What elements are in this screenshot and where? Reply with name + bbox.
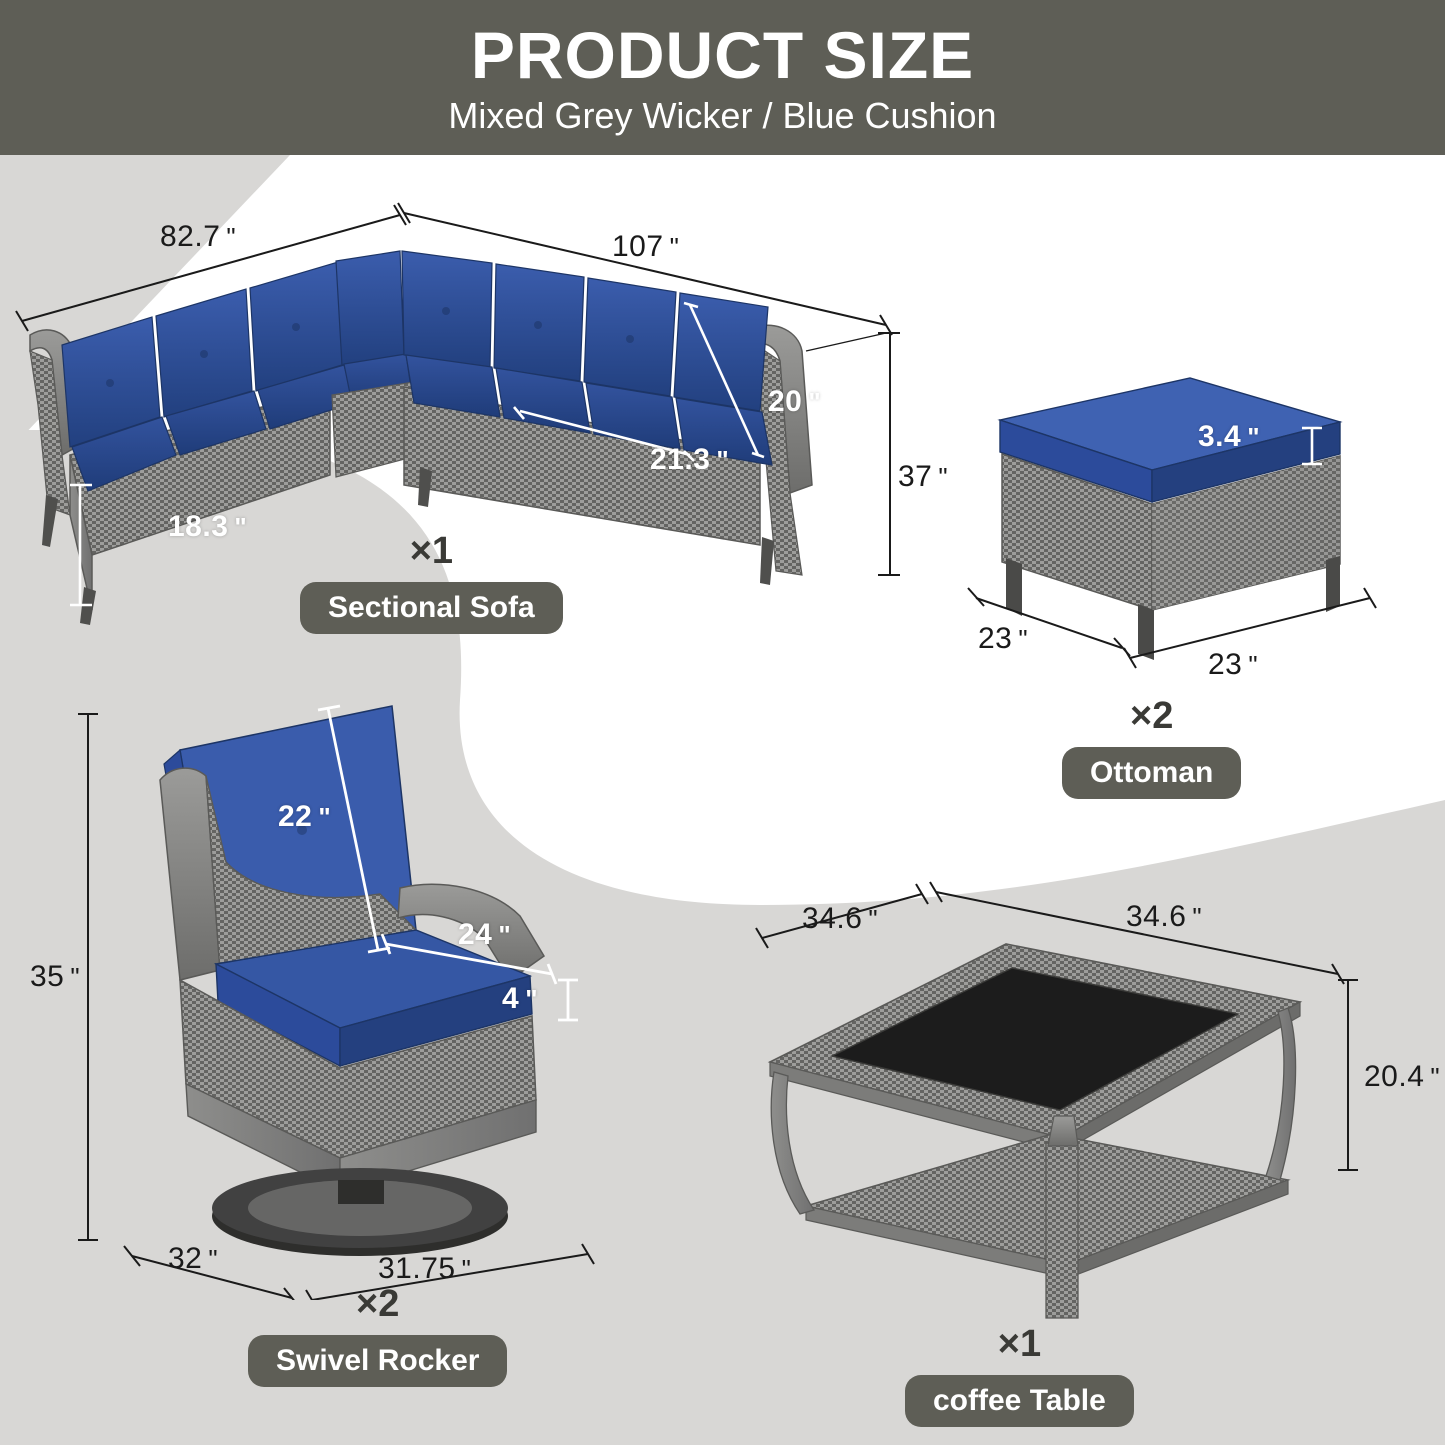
badge-ottoman: ×2 Ottoman (1062, 697, 1241, 799)
dim-rocker-total-height: 35" (30, 960, 80, 994)
label-ottoman: Ottoman (1062, 747, 1241, 799)
product-group-swivel-rocker: 35" 22" 24" 4" 32" 31.75" (40, 680, 660, 1300)
product-group-coffee-table: 34.6" 34.6" 20.4" (740, 880, 1400, 1320)
infographic-canvas: PRODUCT SIZE Mixed Grey Wicker / Blue Cu… (0, 0, 1445, 1445)
label-swivel-rocker: Swivel Rocker (248, 1335, 507, 1387)
coffee-table-illustration (740, 880, 1400, 1320)
dim-table-width: 34.6" (1126, 900, 1202, 934)
swivel-rocker-illustration (40, 680, 660, 1300)
label-sectional-sofa: Sectional Sofa (300, 582, 563, 634)
dim-sofa-seat-depth: 20" (768, 385, 821, 419)
page-subtitle: Mixed Grey Wicker / Blue Cushion (448, 98, 996, 134)
count-ottoman: ×2 (1130, 697, 1173, 735)
header-bar: PRODUCT SIZE Mixed Grey Wicker / Blue Cu… (0, 0, 1445, 155)
dim-rocker-back-height: 22" (278, 800, 331, 834)
dim-ottoman-depth: 23" (978, 622, 1028, 656)
dim-table-depth: 34.6" (802, 902, 878, 936)
dim-rocker-seat-width: 24" (458, 918, 511, 952)
count-sectional-sofa: ×1 (410, 532, 453, 570)
count-coffee-table: ×1 (998, 1325, 1041, 1363)
dim-table-height: 20.4" (1364, 1060, 1440, 1094)
badge-coffee-table: ×1 coffee Table (905, 1325, 1134, 1427)
dim-ottoman-width: 23" (1208, 648, 1258, 682)
dim-sofa-seat-height: 18.3" (168, 510, 247, 544)
dim-ottoman-cushion-thickness: 3.4" (1198, 420, 1260, 454)
label-coffee-table: coffee Table (905, 1375, 1134, 1427)
dim-rocker-width: 31.75" (378, 1252, 471, 1286)
ottoman-illustration (940, 330, 1400, 730)
dim-rocker-depth: 32" (168, 1242, 218, 1276)
product-group-ottoman: 3.4" 23" 23" (940, 330, 1400, 730)
dim-rocker-cushion-thickness: 4" (502, 982, 538, 1016)
badge-swivel-rocker: ×2 Swivel Rocker (248, 1285, 507, 1387)
dim-sofa-left-length: 82.7" (160, 220, 236, 254)
dim-sofa-right-length: 107" (612, 230, 679, 264)
dim-sofa-seat-width: 21.3" (650, 443, 729, 477)
count-swivel-rocker: ×2 (356, 1285, 399, 1323)
page-title: PRODUCT SIZE (471, 22, 974, 88)
badge-sectional-sofa: ×1 Sectional Sofa (300, 532, 563, 634)
